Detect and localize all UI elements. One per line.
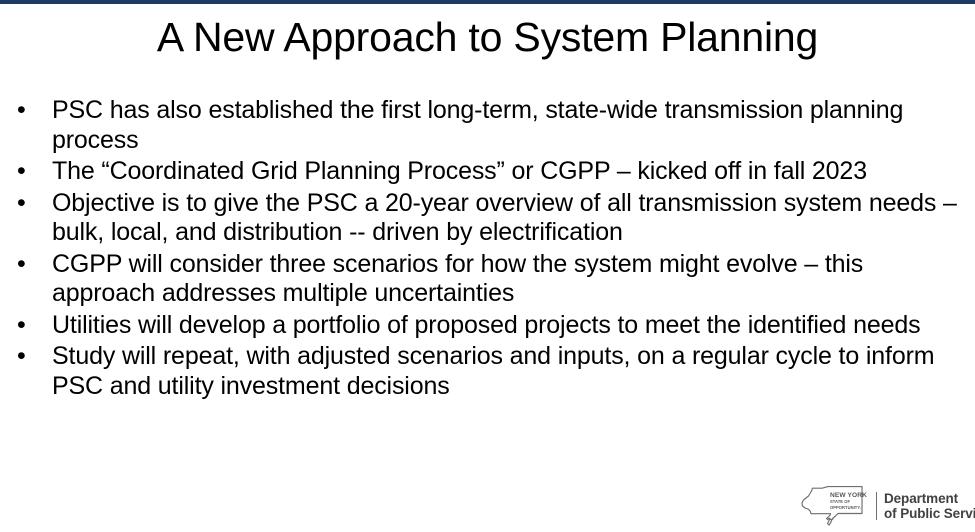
logo-ny-line-3: OPPORTUNITY.	[830, 505, 874, 510]
logo-ny-line-1: NEW YORK	[830, 492, 874, 499]
department-line-1: Department	[884, 491, 975, 507]
department-line-2: of Public Service	[884, 506, 975, 522]
bullet-point-icon: •	[17, 311, 29, 341]
bullet-item-text: Utilities will develop a portfolio of pr…	[52, 311, 957, 341]
bullet-list-item: • The “Coordinated Grid Planning Process…	[0, 157, 975, 187]
department-of-public-service-logo: NEW YORK STATE OF OPPORTUNITY. Departmen…	[800, 484, 968, 528]
bullet-item-text: Study will repeat, with adjusted scenari…	[52, 342, 957, 401]
department-wordmark: Department of Public Service	[884, 491, 975, 522]
bullet-point-icon: •	[17, 189, 29, 219]
slide-top-accent-bar	[0, 0, 975, 4]
slide-title: A New Approach to System Planning	[0, 12, 975, 62]
bullet-list-item: • Utilities will develop a portfolio of …	[0, 311, 975, 341]
bullet-list-item: • Objective is to give the PSC a 20-year…	[0, 189, 975, 248]
presentation-slide: A New Approach to System Planning • PSC …	[0, 0, 975, 532]
logo-divider	[876, 492, 877, 520]
new-york-wordmark: NEW YORK STATE OF OPPORTUNITY.	[830, 492, 874, 510]
bullet-item-text: Objective is to give the PSC a 20-year o…	[52, 189, 957, 248]
bullet-point-icon: •	[17, 250, 29, 280]
bullet-item-text: The “Coordinated Grid Planning Process” …	[52, 157, 957, 187]
bullet-point-icon: •	[17, 157, 29, 187]
bullet-point-icon: •	[17, 342, 29, 372]
bullet-list: • PSC has also established the first lon…	[0, 96, 975, 403]
bullet-list-item: • PSC has also established the first lon…	[0, 96, 975, 155]
new-york-state-outline-icon: NEW YORK STATE OF OPPORTUNITY.	[800, 485, 874, 527]
bullet-point-icon: •	[17, 96, 29, 126]
bullet-list-item: • Study will repeat, with adjusted scena…	[0, 342, 975, 401]
bullet-list-item: • CGPP will consider three scenarios for…	[0, 250, 975, 309]
bullet-item-text: CGPP will consider three scenarios for h…	[52, 250, 957, 309]
bullet-item-text: PSC has also established the first long-…	[52, 96, 957, 155]
